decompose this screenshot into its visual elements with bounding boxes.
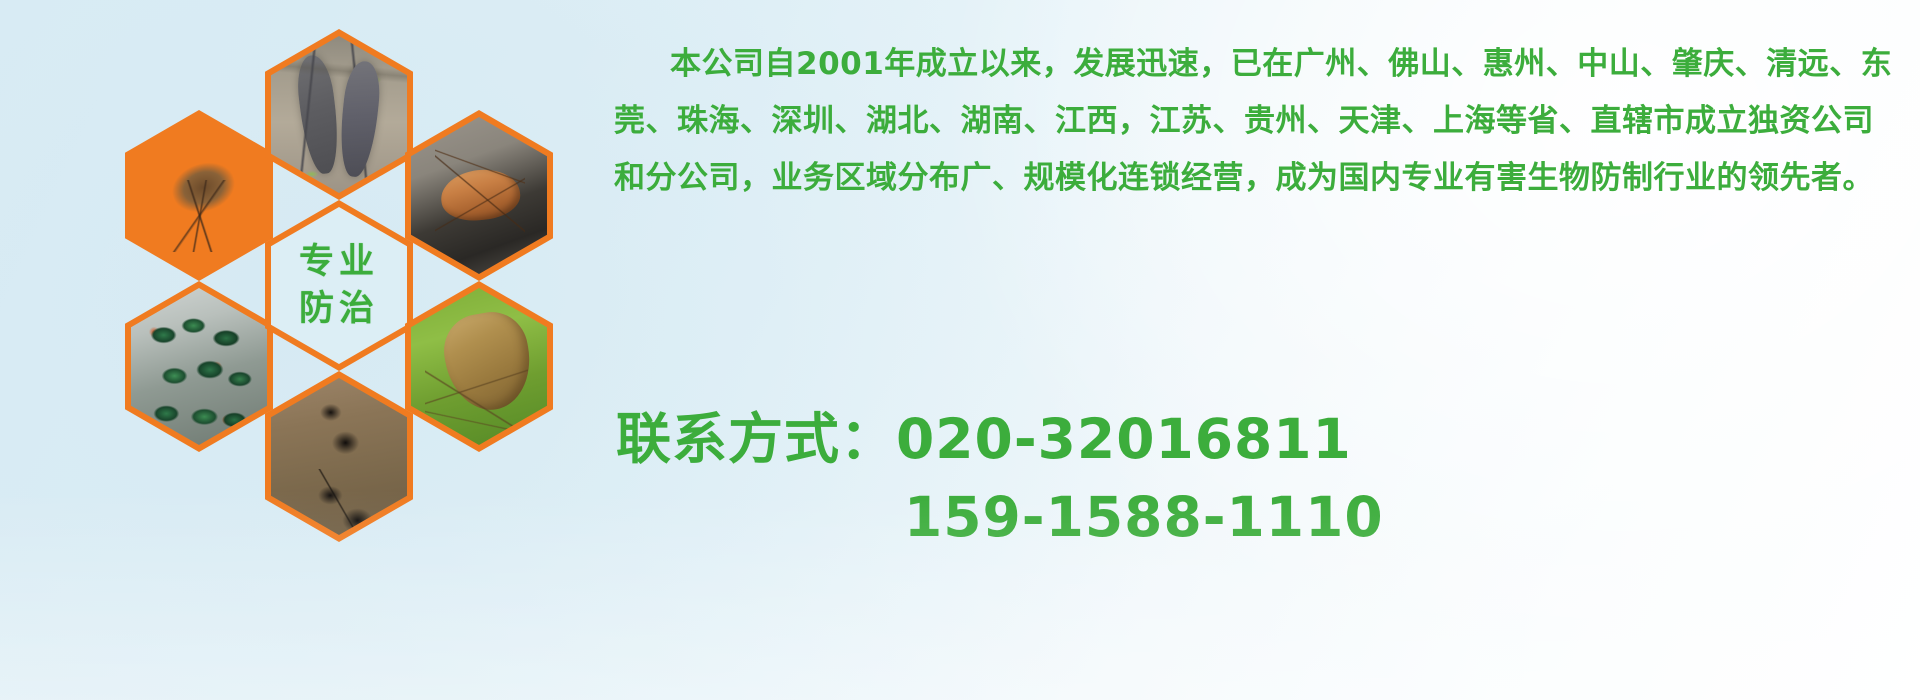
contact-line-landline: 联系方式：020-32016811 xyxy=(616,400,1916,478)
company-intro-banner: 专业 防治 本公司自2001年成立以来，发展迅速，已在广州、佛山、惠州、中山、肇… xyxy=(0,0,1920,700)
hex-inner-ant xyxy=(271,378,407,535)
hex-cell-ant xyxy=(265,371,413,542)
hex-cell-fly xyxy=(125,281,273,452)
hex-cell-stink-bug xyxy=(405,281,553,452)
contact-phone-mobile[interactable]: 159-1588-1110 xyxy=(904,485,1384,549)
hex-inner-fly xyxy=(131,288,267,445)
hex-cell-mosquito xyxy=(125,110,273,281)
hex-cell-center-label: 专业 防治 xyxy=(265,200,413,371)
comb-slogan-line2: 防治 xyxy=(299,286,379,332)
company-intro-paragraph: 本公司自2001年成立以来，发展迅速，已在广州、佛山、惠州、中山、肇庆、清远、东… xyxy=(614,36,1904,207)
hex-inner-stink-bug xyxy=(411,288,547,445)
fly-photo xyxy=(131,288,267,445)
contact-block: 联系方式：020-32016811 159-1588-1110 xyxy=(616,400,1916,556)
cockroach-photo xyxy=(411,117,547,274)
mosquito-photo xyxy=(131,117,267,274)
contact-label: 联系方式： xyxy=(616,407,896,471)
hex-inner-center: 专业 防治 xyxy=(271,207,407,364)
comb-slogan: 专业 防治 xyxy=(299,239,379,331)
ant-photo xyxy=(271,378,407,535)
rat-photo-detail xyxy=(271,36,407,193)
honeycomb-collage: 专业 防治 xyxy=(85,0,605,582)
comb-slogan-line1: 专业 xyxy=(299,239,379,285)
rat-photo xyxy=(271,36,407,193)
hex-inner-rat xyxy=(271,36,407,193)
hex-cell-rat xyxy=(265,29,413,200)
hex-inner-mosquito xyxy=(131,117,267,274)
contact-phone-landline[interactable]: 020-32016811 xyxy=(896,407,1352,471)
contact-line-mobile: 159-1588-1110 xyxy=(616,478,1916,556)
stink-bug-photo xyxy=(411,288,547,445)
hex-cell-cockroach xyxy=(405,110,553,281)
intro-copy-block: 本公司自2001年成立以来，发展迅速，已在广州、佛山、惠州、中山、肇庆、清远、东… xyxy=(614,36,1914,207)
hex-inner-cockroach xyxy=(411,117,547,274)
